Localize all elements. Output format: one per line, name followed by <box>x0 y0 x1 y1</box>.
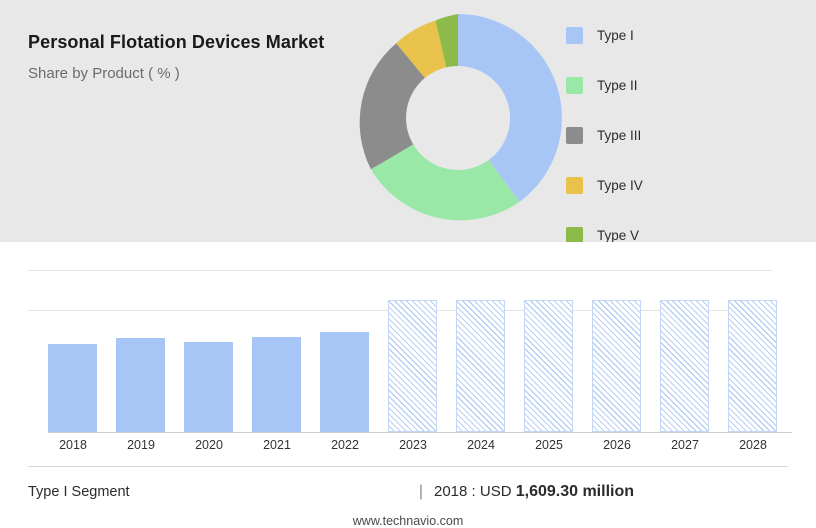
footer-value: 2018 : USD 1,609.30 million <box>434 483 634 501</box>
bar-2028 <box>728 300 777 432</box>
bar-2023 <box>388 300 437 432</box>
bar-2026 <box>592 300 641 432</box>
x-axis-labels: 2018 2019 2020 2021 2022 2023 2024 2025 … <box>48 438 792 460</box>
footer: Type I Segment | 2018 : USD 1,609.30 mil… <box>28 475 788 509</box>
x-label-2020: 2020 <box>175 438 243 452</box>
page-title: Personal Flotation Devices Market <box>28 30 358 55</box>
x-axis-line <box>48 432 792 433</box>
site-url: www.technavio.com <box>0 514 816 528</box>
x-label-2023: 2023 <box>379 438 447 452</box>
x-label-2027: 2027 <box>651 438 719 452</box>
donut-chart <box>348 8 568 228</box>
bar-chart: 2018 2019 2020 2021 2022 2023 2024 2025 … <box>28 256 788 446</box>
page-subtitle: Share by Product ( % ) <box>28 65 358 82</box>
x-label-2026: 2026 <box>583 438 651 452</box>
legend-item-type-ii: Type II <box>566 60 643 110</box>
x-label-2028: 2028 <box>719 438 787 452</box>
bar-2020 <box>184 342 233 432</box>
x-label-2025: 2025 <box>515 438 583 452</box>
legend-item-type-iv: Type IV <box>566 160 643 210</box>
footer-value-amount: 1,609.30 million <box>516 483 634 500</box>
x-label-2019: 2019 <box>107 438 175 452</box>
legend-swatch-icon <box>566 127 583 144</box>
bar-2019 <box>116 338 165 432</box>
legend-label: Type IV <box>597 178 643 193</box>
donut-chart-svg <box>348 8 568 228</box>
legend-swatch-icon <box>566 227 583 244</box>
bar-2018 <box>48 344 97 432</box>
legend-swatch-icon <box>566 77 583 94</box>
legend: Type I Type II Type III Type IV Type V <box>566 10 643 260</box>
footer-separator: | <box>408 483 434 501</box>
bar-2025 <box>524 300 573 432</box>
bar-chart-panel: 2018 2019 2020 2021 2022 2023 2024 2025 … <box>0 242 816 528</box>
x-label-2021: 2021 <box>243 438 311 452</box>
bar-2027 <box>660 300 709 432</box>
legend-label: Type I <box>597 28 634 43</box>
header-panel: Personal Flotation Devices Market Share … <box>0 0 816 242</box>
x-label-2024: 2024 <box>447 438 515 452</box>
legend-label: Type III <box>597 128 641 143</box>
legend-item-type-i: Type I <box>566 10 643 60</box>
donut-hole <box>406 66 510 170</box>
legend-swatch-icon <box>566 177 583 194</box>
bar-2024 <box>456 300 505 432</box>
x-label-2022: 2022 <box>311 438 379 452</box>
legend-label: Type V <box>597 228 639 243</box>
bar-2021 <box>252 337 301 432</box>
legend-item-type-iii: Type III <box>566 110 643 160</box>
x-label-2018: 2018 <box>39 438 107 452</box>
bar-series <box>48 256 772 432</box>
legend-label: Type II <box>597 78 638 93</box>
bar-2022 <box>320 332 369 432</box>
footer-value-prefix: 2018 : USD <box>434 483 512 500</box>
legend-swatch-icon <box>566 27 583 44</box>
footer-divider <box>28 466 788 467</box>
title-block: Personal Flotation Devices Market Share … <box>28 30 358 82</box>
footer-segment-label: Type I Segment <box>28 484 408 500</box>
